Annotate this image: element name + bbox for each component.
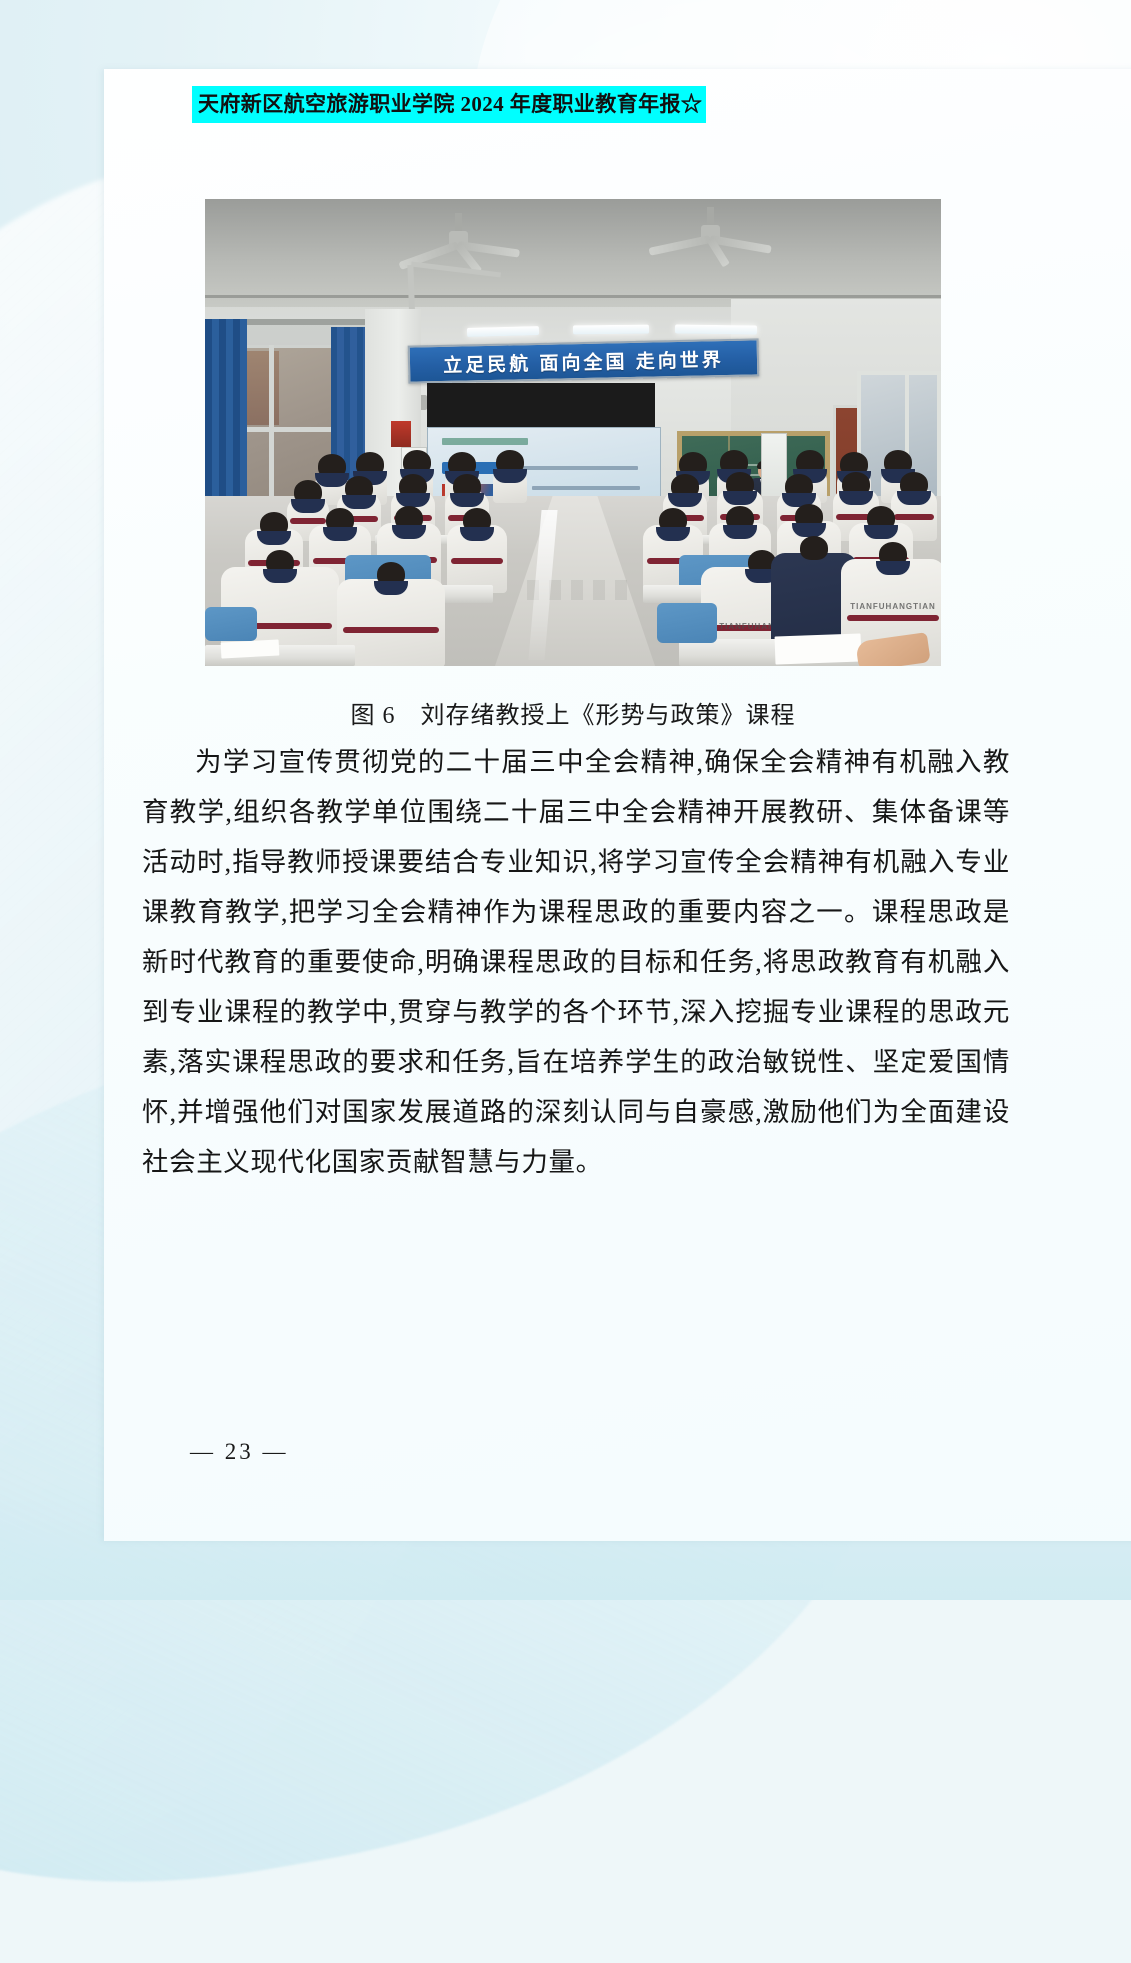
slide-text-line-1 (510, 466, 638, 470)
classroom-chair (205, 607, 257, 641)
figure-caption: 图 6 刘存绪教授上《形势与政策》课程 (205, 695, 941, 730)
student-seat (493, 467, 527, 503)
classroom-photo: 立足民航 面向全国 走向世界 (205, 199, 941, 666)
running-header: 天府新区航空旅游职业学院 2024 年度职业教育年报☆ (192, 86, 706, 123)
projector-screen-casing (427, 383, 655, 433)
photo-poster-red (391, 421, 411, 447)
notebook-paper (775, 634, 862, 665)
ceiling-fan-left-icon (453, 213, 463, 273)
figure-block: 立足民航 面向全国 走向世界 (205, 199, 941, 666)
classroom-chair (657, 603, 717, 643)
ceiling-light-2-icon (573, 325, 649, 335)
slide-text-line-2 (532, 486, 640, 490)
ceiling-light-3-icon (675, 324, 757, 334)
photo-ceiling-seam (205, 295, 941, 298)
uniform-back-text: TIANFUHANGTIAN (841, 602, 941, 611)
page-number: — 23 — (190, 1439, 289, 1465)
ceiling-fan-right-icon (705, 207, 715, 267)
slide-title-bar (442, 438, 528, 445)
body-paragraph: 为学习宣传贯彻党的二十届三中全会精神,确保全会精神有机融入教育教学,组织各教学单… (142, 737, 1010, 1187)
notebook-paper (221, 639, 280, 658)
document-page: 天府新区航空旅游职业学院 2024 年度职业教育年报☆ (104, 69, 1131, 1541)
student-seat (447, 525, 507, 593)
classroom-motto-banner: 立足民航 面向全国 走向世界 (408, 338, 760, 383)
ceiling-light-1-icon (467, 326, 539, 337)
classroom-motto-text: 立足民航 面向全国 走向世界 (443, 345, 724, 378)
